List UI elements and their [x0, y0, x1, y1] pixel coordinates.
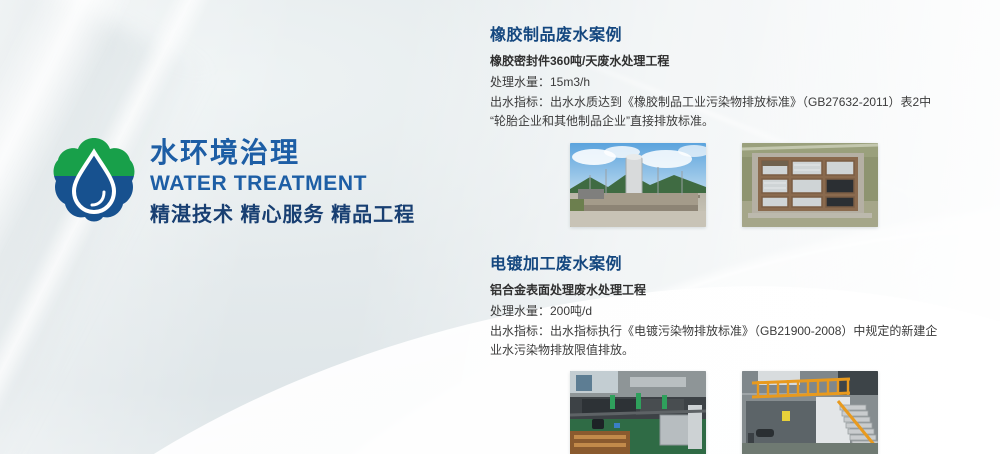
photo-rubber-plant-outdoor-tank[interactable] — [570, 143, 706, 227]
case-project-name: 橡胶密封件360吨/天废水处理工程 — [490, 53, 960, 70]
case-title: 橡胶制品废水案例 — [490, 26, 960, 46]
case-photo-row — [570, 143, 960, 227]
photo-plating-equipment-stairs[interactable] — [742, 371, 878, 454]
brand-title: 水环境治理 — [150, 136, 415, 169]
brand-slogan: 精湛技术 精心服务 精品工程 — [150, 202, 415, 228]
brand-subtitle-english: WATER TREATMENT — [150, 170, 415, 198]
case-block-plating: 电镀加工废水案例 铝合金表面处理废水处理工程 处理水量：200吨/d 出水指标：… — [490, 255, 960, 454]
case-standard: 出水指标：出水水质达到《橡胶制品工业污染物排放标准》（GB27632-2011）… — [490, 93, 942, 132]
case-photo-row — [570, 371, 960, 454]
case-list: 橡胶制品废水案例 橡胶密封件360吨/天废水处理工程 处理水量：15m3/h 出… — [490, 26, 960, 454]
photo-plating-indoor-tanks[interactable] — [570, 371, 706, 454]
banner-canvas: 水环境治理 WATER TREATMENT 精湛技术 精心服务 精品工程 橡胶制… — [0, 0, 1000, 454]
water-drop-flower-logo-icon — [52, 134, 136, 232]
brand-text-group: 水环境治理 WATER TREATMENT 精湛技术 精心服务 精品工程 — [150, 134, 415, 228]
case-standard: 出水指标：出水指标执行《电镀污染物排放标准》（GB21900-2008）中规定的… — [490, 322, 942, 361]
case-block-rubber: 橡胶制品废水案例 橡胶密封件360吨/天废水处理工程 处理水量：15m3/h 出… — [490, 26, 960, 227]
case-capacity: 处理水量：15m3/h — [490, 73, 960, 92]
brand-lockup: 水环境治理 WATER TREATMENT 精湛技术 精心服务 精品工程 — [52, 134, 415, 232]
case-title: 电镀加工废水案例 — [490, 255, 960, 275]
case-capacity: 处理水量：200吨/d — [490, 302, 960, 321]
case-project-name: 铝合金表面处理废水处理工程 — [490, 282, 960, 299]
photo-rubber-plant-aerial-basins[interactable] — [742, 143, 878, 227]
